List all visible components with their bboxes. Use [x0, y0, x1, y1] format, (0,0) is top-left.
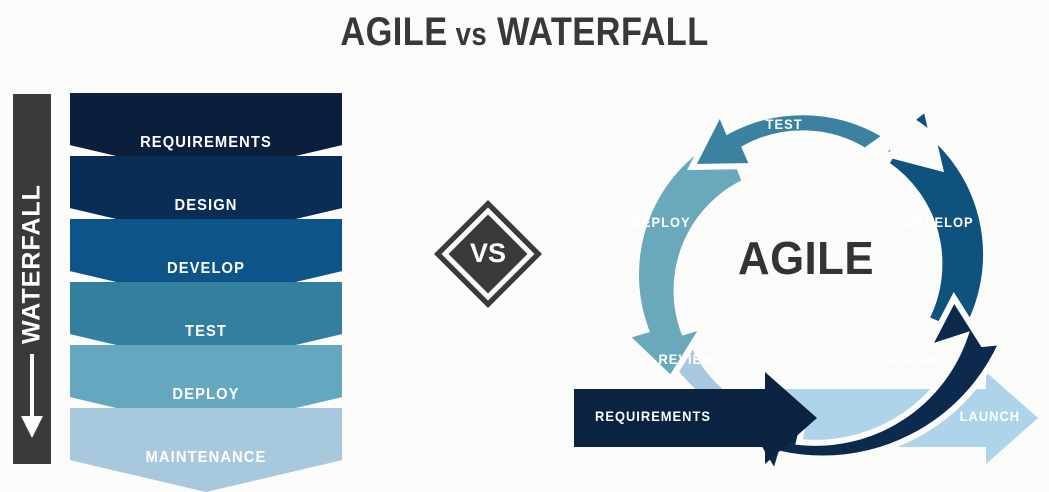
- infographic-canvas: AGILE vs WATERFALL WATERFALL REQUIREMENT…: [0, 0, 1049, 485]
- title-part-agile: AGILE: [340, 10, 447, 54]
- waterfall-down-arrow-icon: [19, 354, 45, 440]
- agile-stage-label-design: DESIGN: [883, 351, 938, 367]
- versus-badge: VS: [432, 198, 544, 310]
- waterfall-stage-stack: REQUIREMENTS DESIGN DEVELOP TEST DEPLOY …: [70, 93, 342, 468]
- agile-stage-label-test: TEST: [766, 116, 803, 132]
- agile-cycle-diagram: AGILE TEST DEVELOP DESIGN REVIEW DEPLOY …: [568, 86, 1049, 485]
- agile-stage-label-review: REVIEW: [658, 351, 715, 367]
- page-title: AGILE vs WATERFALL: [73, 10, 975, 55]
- agile-center-label: AGILE: [706, 231, 906, 285]
- agile-launch-label: LAUNCH: [960, 408, 1020, 424]
- waterfall-side-label: WATERFALL: [18, 184, 47, 344]
- agile-stage-label-deploy: DEPLOY: [632, 214, 691, 230]
- waterfall-stage-label-test: TEST: [81, 323, 331, 341]
- waterfall-stage-label-design: DESIGN: [81, 197, 331, 215]
- waterfall-stage-label-develop: DEVELOP: [81, 260, 331, 278]
- agile-cycle-graphic: [568, 86, 1049, 485]
- waterfall-stage-label-maintenance: MAINTENANCE: [81, 449, 331, 467]
- waterfall-side-bar: WATERFALL: [13, 94, 51, 464]
- agile-stage-label-develop: DEVELOP: [905, 214, 974, 230]
- title-part-waterfall: WATERFALL: [497, 10, 709, 54]
- title-space: [487, 10, 497, 54]
- versus-diamond-icon: [432, 198, 544, 310]
- agile-requirements-label: REQUIREMENTS: [595, 408, 711, 424]
- waterfall-stage-label-requirements: REQUIREMENTS: [81, 134, 331, 152]
- title-vs-word: vs: [456, 16, 487, 52]
- waterfall-stage-label-deploy: DEPLOY: [81, 386, 331, 404]
